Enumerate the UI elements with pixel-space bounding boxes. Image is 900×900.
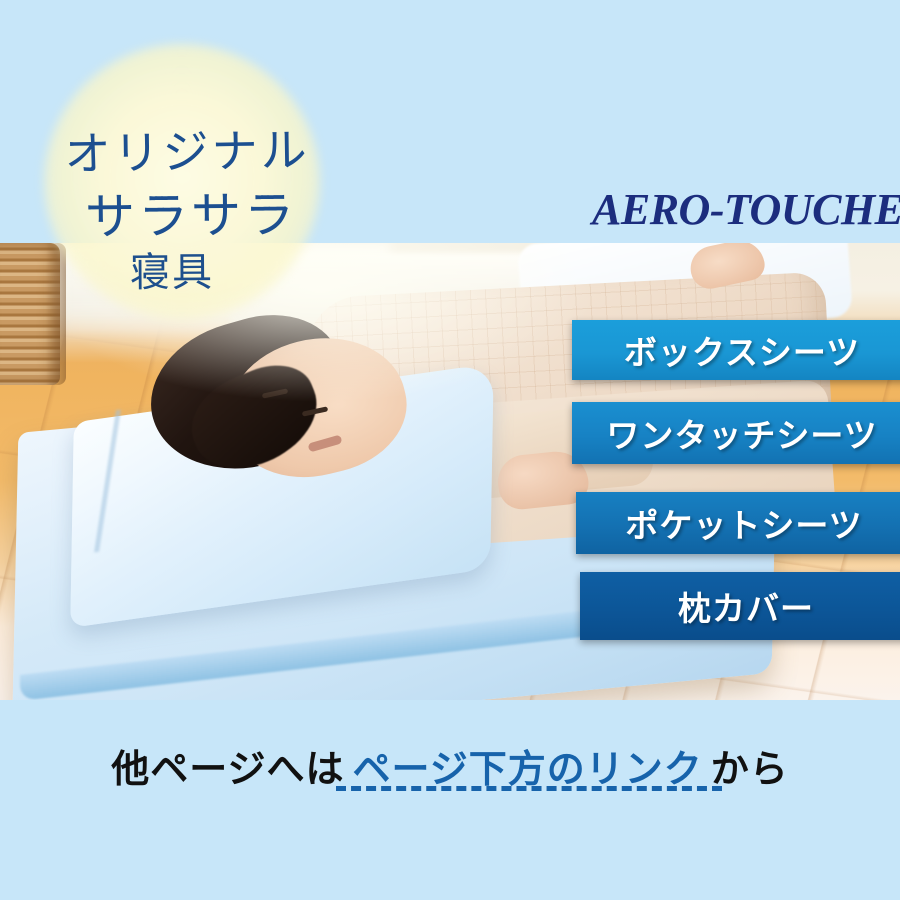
brand-name: AERO-TOUCHE: [592, 185, 900, 234]
footer-link-text[interactable]: ページ下方のリンク: [352, 747, 702, 791]
footer-suffix: から: [711, 747, 789, 791]
footer-prefix: 他ページへは: [111, 747, 344, 791]
product-label-one-touch-sheet[interactable]: ワンタッチシーツ: [572, 402, 900, 464]
product-label-box-sheet[interactable]: ボックスシーツ: [572, 320, 900, 380]
rattan-basket-shading: [46, 243, 66, 385]
promo-banner: オリジナル サラサラ 寝具 AERO-TOUCHE® ボックスシーツ ワンタッチ…: [0, 0, 900, 900]
brand-logo: AERO-TOUCHE®: [592, 184, 900, 235]
footer-link-underline: [336, 786, 722, 791]
headline-line-3: 寝具: [72, 239, 272, 298]
product-label-pillow-cover[interactable]: 枕カバー: [580, 572, 900, 640]
headline-line-1: オリジナル: [51, 114, 322, 185]
headline-line-2: サラサラ: [56, 175, 327, 250]
product-label-pocket-sheet[interactable]: ポケットシーツ: [576, 492, 900, 554]
footer-note: 他ページへはページ下方のリンクから: [0, 738, 900, 793]
